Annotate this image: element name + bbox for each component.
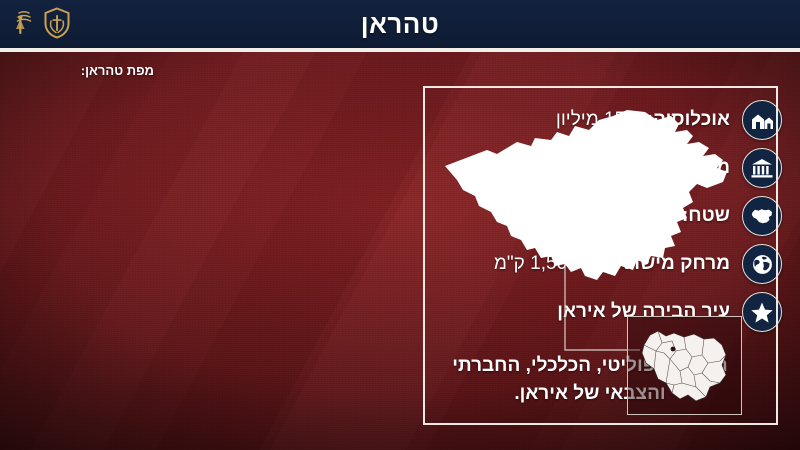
iran-inset-map xyxy=(627,316,742,415)
infographic-canvas: טהראן אוכלוסיה: כ-15 מיליון xyxy=(0,0,800,450)
header-divider xyxy=(0,48,800,52)
header-bar: טהראן xyxy=(0,0,800,48)
page-title: טהראן xyxy=(0,0,800,48)
tehran-province-outline xyxy=(431,96,757,296)
map-caption: מפת טהראן: xyxy=(81,63,154,78)
map-panel xyxy=(423,86,778,425)
iran-country-outline xyxy=(636,321,734,409)
tehran-location-dot xyxy=(671,347,676,352)
